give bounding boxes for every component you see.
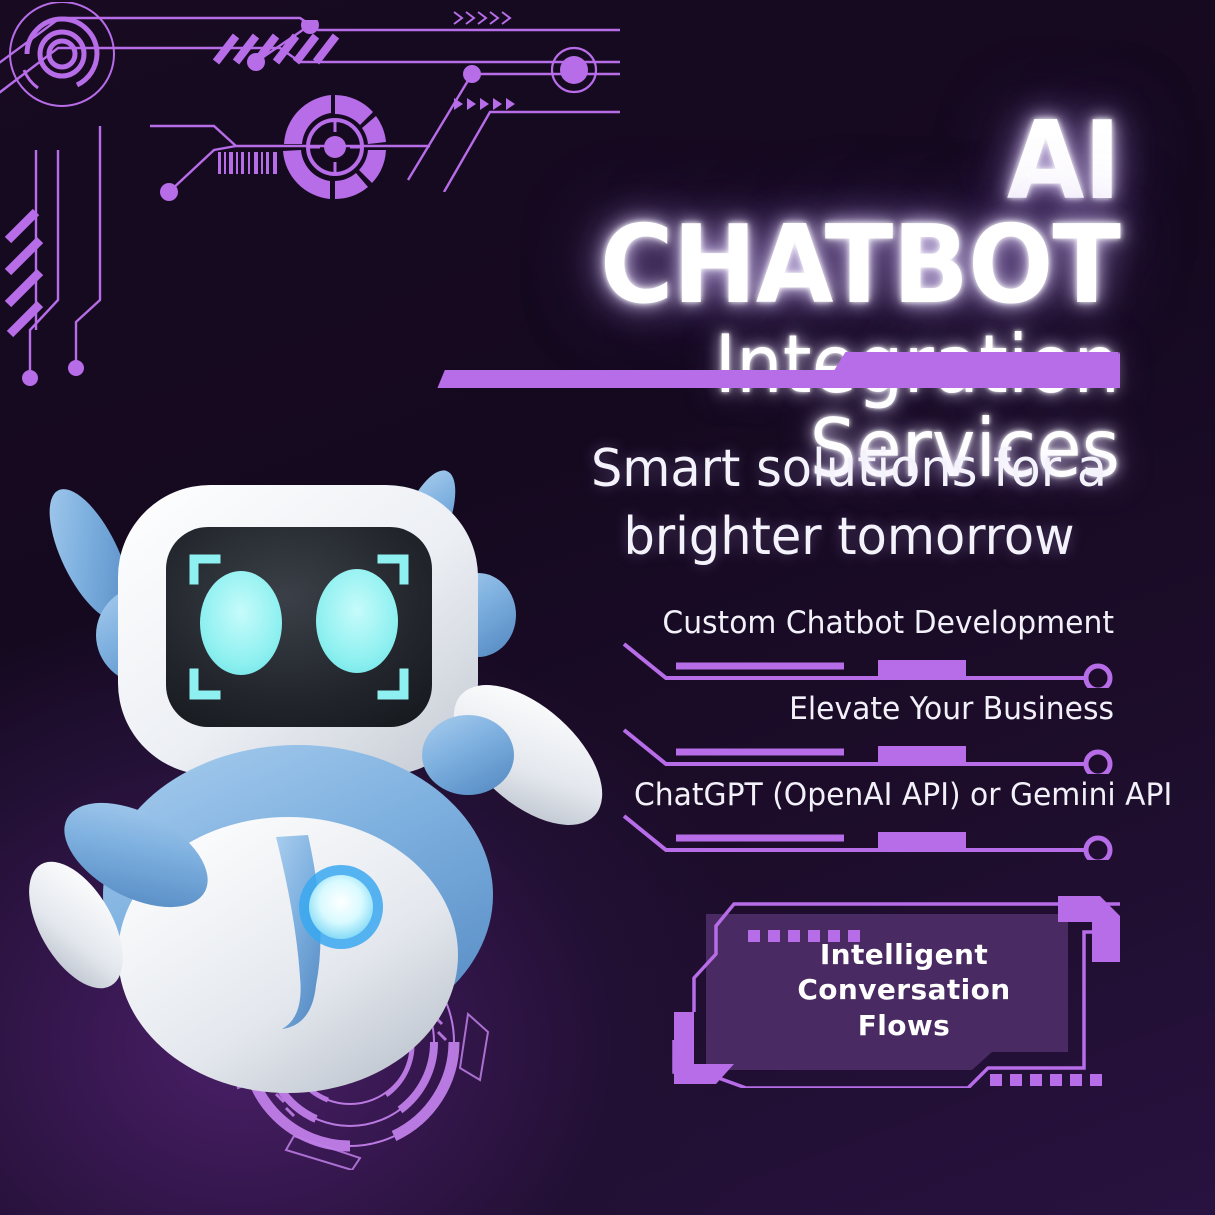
robot-eye-left bbox=[200, 571, 282, 675]
tagline-line-2: brighter tomorrow bbox=[589, 504, 1110, 572]
feature-item: Custom Chatbot Development bbox=[620, 606, 1120, 692]
barcode-icon bbox=[218, 152, 280, 174]
poster-title: AI CHATBOT bbox=[478, 110, 1120, 317]
feature-item: ChatGPT (OpenAI API) or Gemini API bbox=[620, 778, 1120, 864]
feature-label: Elevate Your Business bbox=[634, 692, 1114, 726]
robot-eye-right bbox=[316, 569, 398, 673]
badge-line-3: Flows bbox=[858, 1008, 951, 1044]
title-block: AI CHATBOT Integration Services bbox=[430, 110, 1120, 491]
badge-line-1: Intelligent bbox=[820, 937, 988, 973]
hatch-bar-group-top bbox=[210, 24, 380, 68]
feature-list: Custom Chatbot Development Elevate Your … bbox=[620, 606, 1120, 864]
chevron-sequence-icon bbox=[452, 8, 532, 28]
poster-canvas: AI CHATBOT Integration Services Smart so… bbox=[0, 0, 1215, 1215]
ring-node-icon bbox=[548, 44, 600, 96]
tagline: Smart solutions for a brighter tomorrow bbox=[589, 436, 1110, 571]
robot-chest-orb bbox=[309, 875, 373, 939]
robot-forearm-right bbox=[422, 715, 514, 795]
concentric-ring-icon bbox=[2, 2, 132, 122]
highlight-badge: Intelligent Conversation Flows bbox=[672, 892, 1120, 1088]
feature-circuit-line bbox=[620, 812, 1120, 860]
feature-circuit-line bbox=[620, 726, 1120, 774]
tagline-line-1: Smart solutions for a bbox=[589, 436, 1110, 504]
gear-target-icon bbox=[280, 92, 390, 202]
feature-label: Custom Chatbot Development bbox=[634, 606, 1114, 640]
feature-label: ChatGPT (OpenAI API) or Gemini API bbox=[634, 778, 1114, 812]
diagonal-hatch-icon bbox=[8, 212, 40, 334]
badge-line-2: Conversation bbox=[797, 972, 1010, 1008]
feature-item: Elevate Your Business bbox=[620, 692, 1120, 778]
accent-banner bbox=[430, 336, 1120, 403]
robot-mascot bbox=[8, 455, 638, 1155]
badge-text-block: Intelligent Conversation Flows bbox=[672, 892, 1120, 1088]
feature-circuit-line bbox=[620, 640, 1120, 688]
